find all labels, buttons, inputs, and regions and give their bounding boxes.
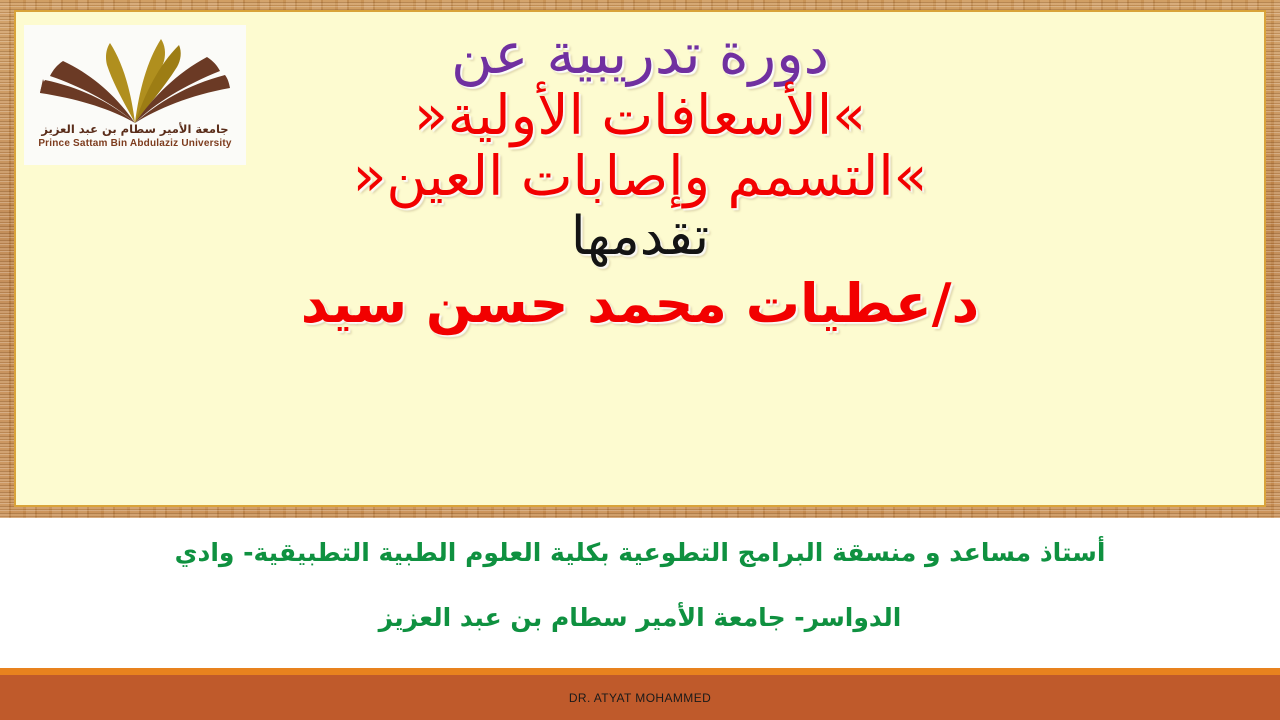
footer-text: DR. ATYAT MOHAMMED: [569, 691, 711, 705]
title-line-1: دورة تدريبية عن: [16, 20, 1264, 84]
footer-bar: DR. ATYAT MOHAMMED: [0, 675, 1280, 720]
title-panel: جامعة الأمير سطام بن عبد العزيز Prince S…: [14, 10, 1266, 507]
affiliation-band: أستاذ مساعد و منسقة البرامج التطوعية بكل…: [0, 518, 1280, 668]
title-line-2: »الأسعافات الأولية«: [16, 86, 1264, 144]
title-line-3: »التسمم وإصابات العين«: [16, 147, 1264, 205]
presenter-name: د/عطيات محمد حسن سيد: [16, 275, 1264, 332]
affiliation-line-2: الدواسر- جامعة الأمير سطام بن عبد العزيز: [0, 605, 1280, 630]
wood-frame-border: جامعة الأمير سطام بن عبد العزيز Prince S…: [0, 0, 1280, 518]
title-line-4: تقدمها: [16, 209, 1264, 265]
title-block: دورة تدريبية عن »الأسعافات الأولية« »الت…: [16, 20, 1264, 332]
presentation-slide: جامعة الأمير سطام بن عبد العزيز Prince S…: [0, 0, 1280, 720]
accent-bar: [0, 668, 1280, 675]
affiliation-line-1: أستاذ مساعد و منسقة البرامج التطوعية بكل…: [0, 540, 1280, 565]
